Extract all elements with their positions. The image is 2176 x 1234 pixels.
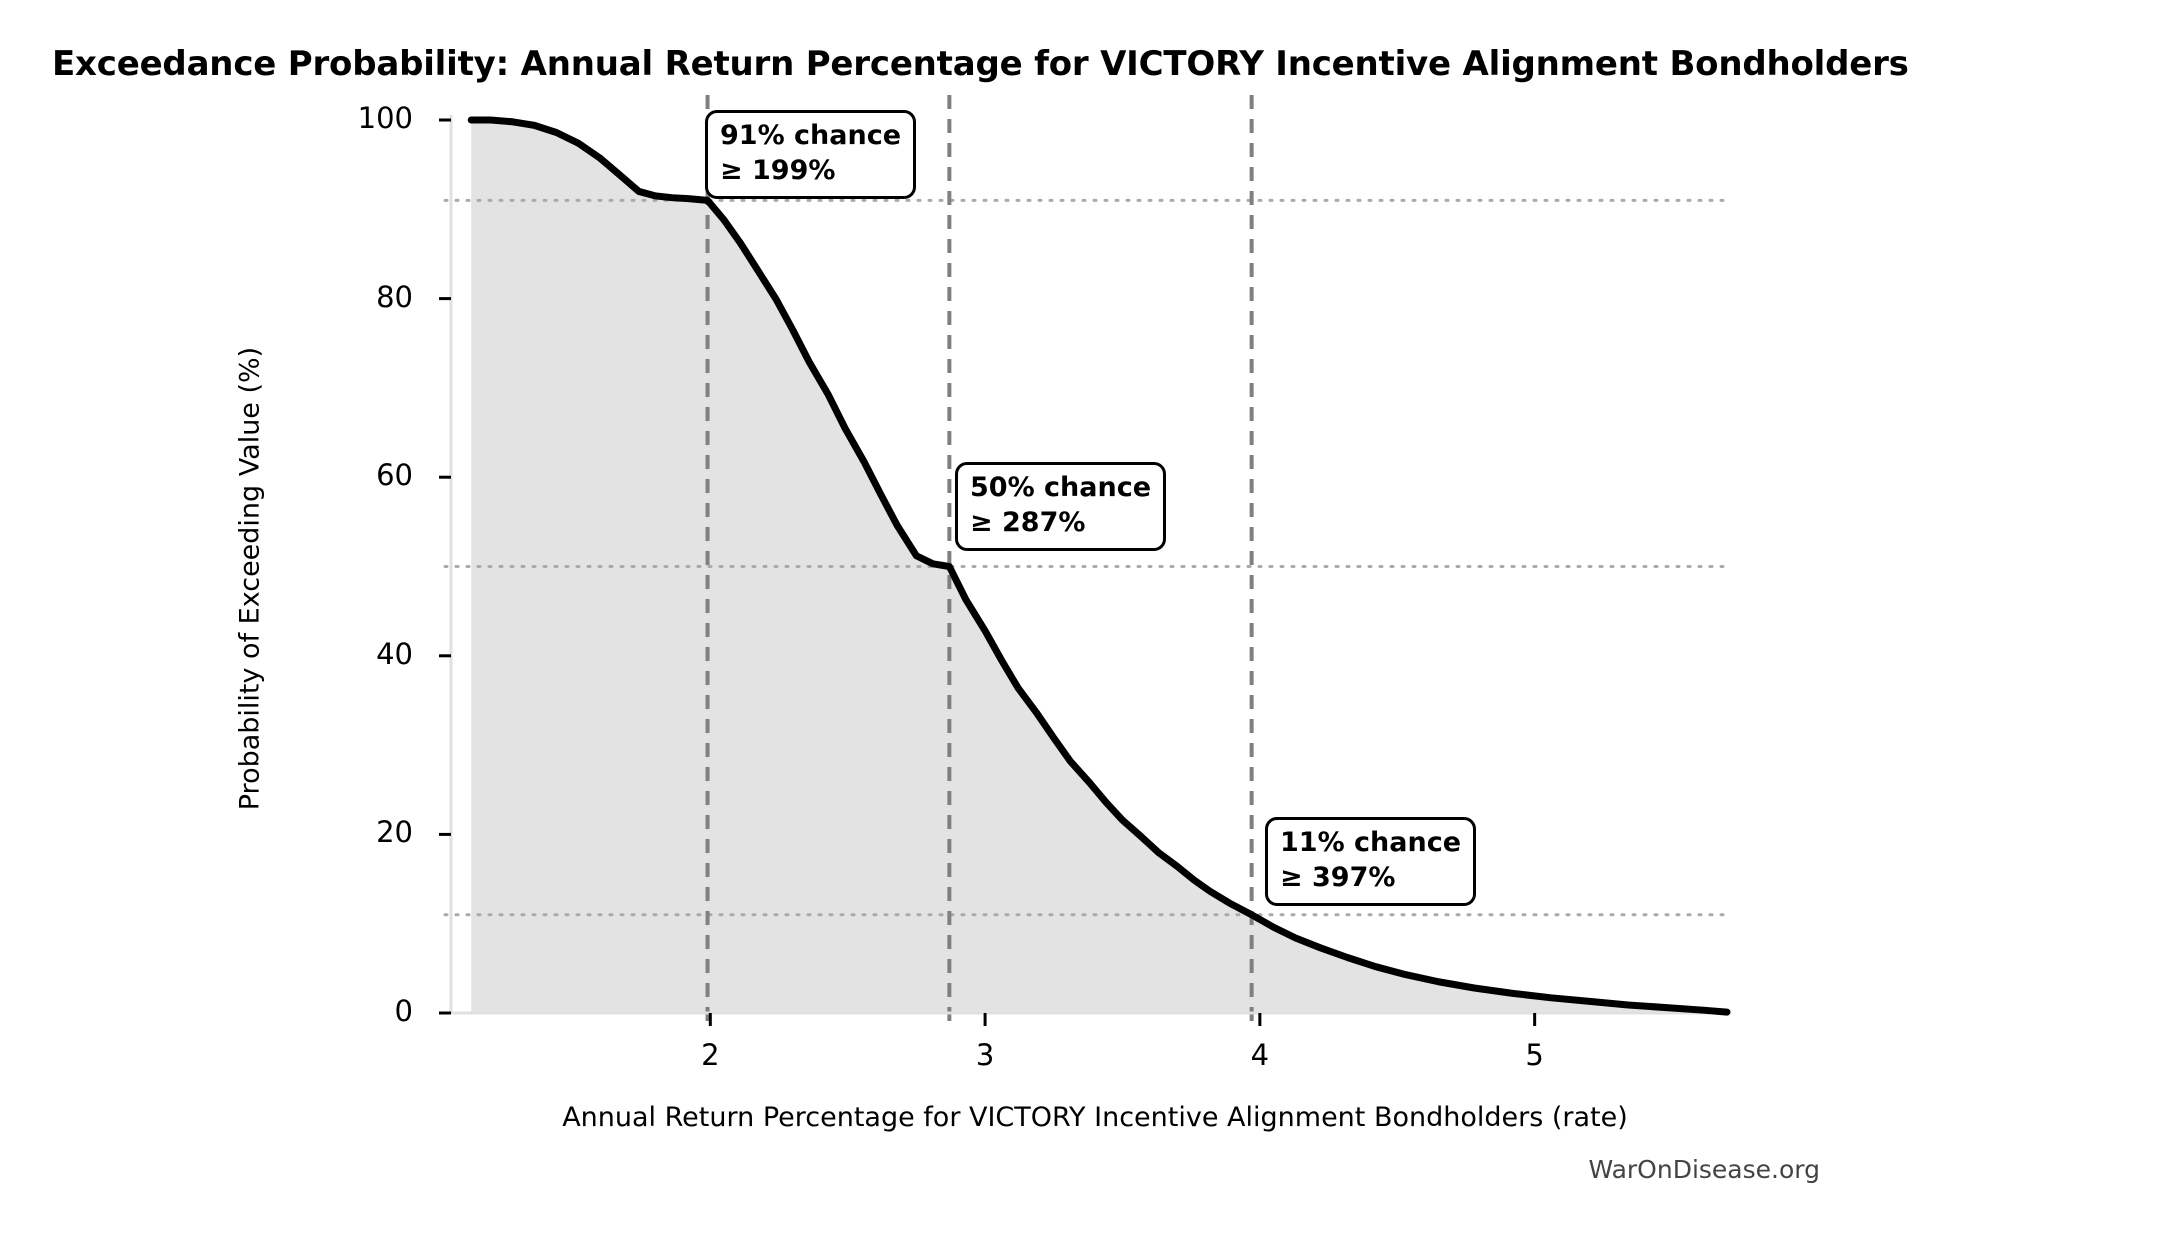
annotation-line-2: ≥ 199%: [720, 154, 901, 189]
y-tick-label: 0: [293, 994, 413, 1028]
y-axis-label: Probability of Exceeding Value (%): [235, 229, 266, 929]
annotation-box-91: 91% chance ≥ 199%: [705, 110, 916, 199]
area-fill: [471, 120, 1727, 1013]
x-tick-label: 4: [1220, 1038, 1300, 1072]
y-tick-label: 20: [293, 815, 413, 849]
y-tick-label: 60: [293, 458, 413, 492]
x-tick-label: 2: [670, 1038, 750, 1072]
annotation-line-2: ≥ 287%: [970, 506, 1151, 541]
watermark: WarOnDisease.org: [1320, 1155, 1820, 1184]
annotation-line-2: ≥ 397%: [1280, 861, 1461, 896]
y-tick-label: 40: [293, 637, 413, 671]
annotation-box-11: 11% chance ≥ 397%: [1265, 817, 1476, 906]
annotation-line-1: 11% chance: [1280, 826, 1461, 861]
x-tick-label: 5: [1495, 1038, 1575, 1072]
chart-plot-area: [0, 0, 2176, 1234]
annotation-box-50: 50% chance ≥ 287%: [955, 462, 1166, 551]
chart-page: Exceedance Probability: Annual Return Pe…: [0, 0, 2176, 1234]
annotation-line-1: 91% chance: [720, 119, 901, 154]
y-tick-label: 100: [293, 101, 413, 135]
annotation-line-1: 50% chance: [970, 471, 1151, 506]
x-tick-label: 3: [945, 1038, 1025, 1072]
y-tick-label: 80: [293, 280, 413, 314]
x-axis-label: Annual Return Percentage for VICTORY Inc…: [463, 1102, 1727, 1133]
